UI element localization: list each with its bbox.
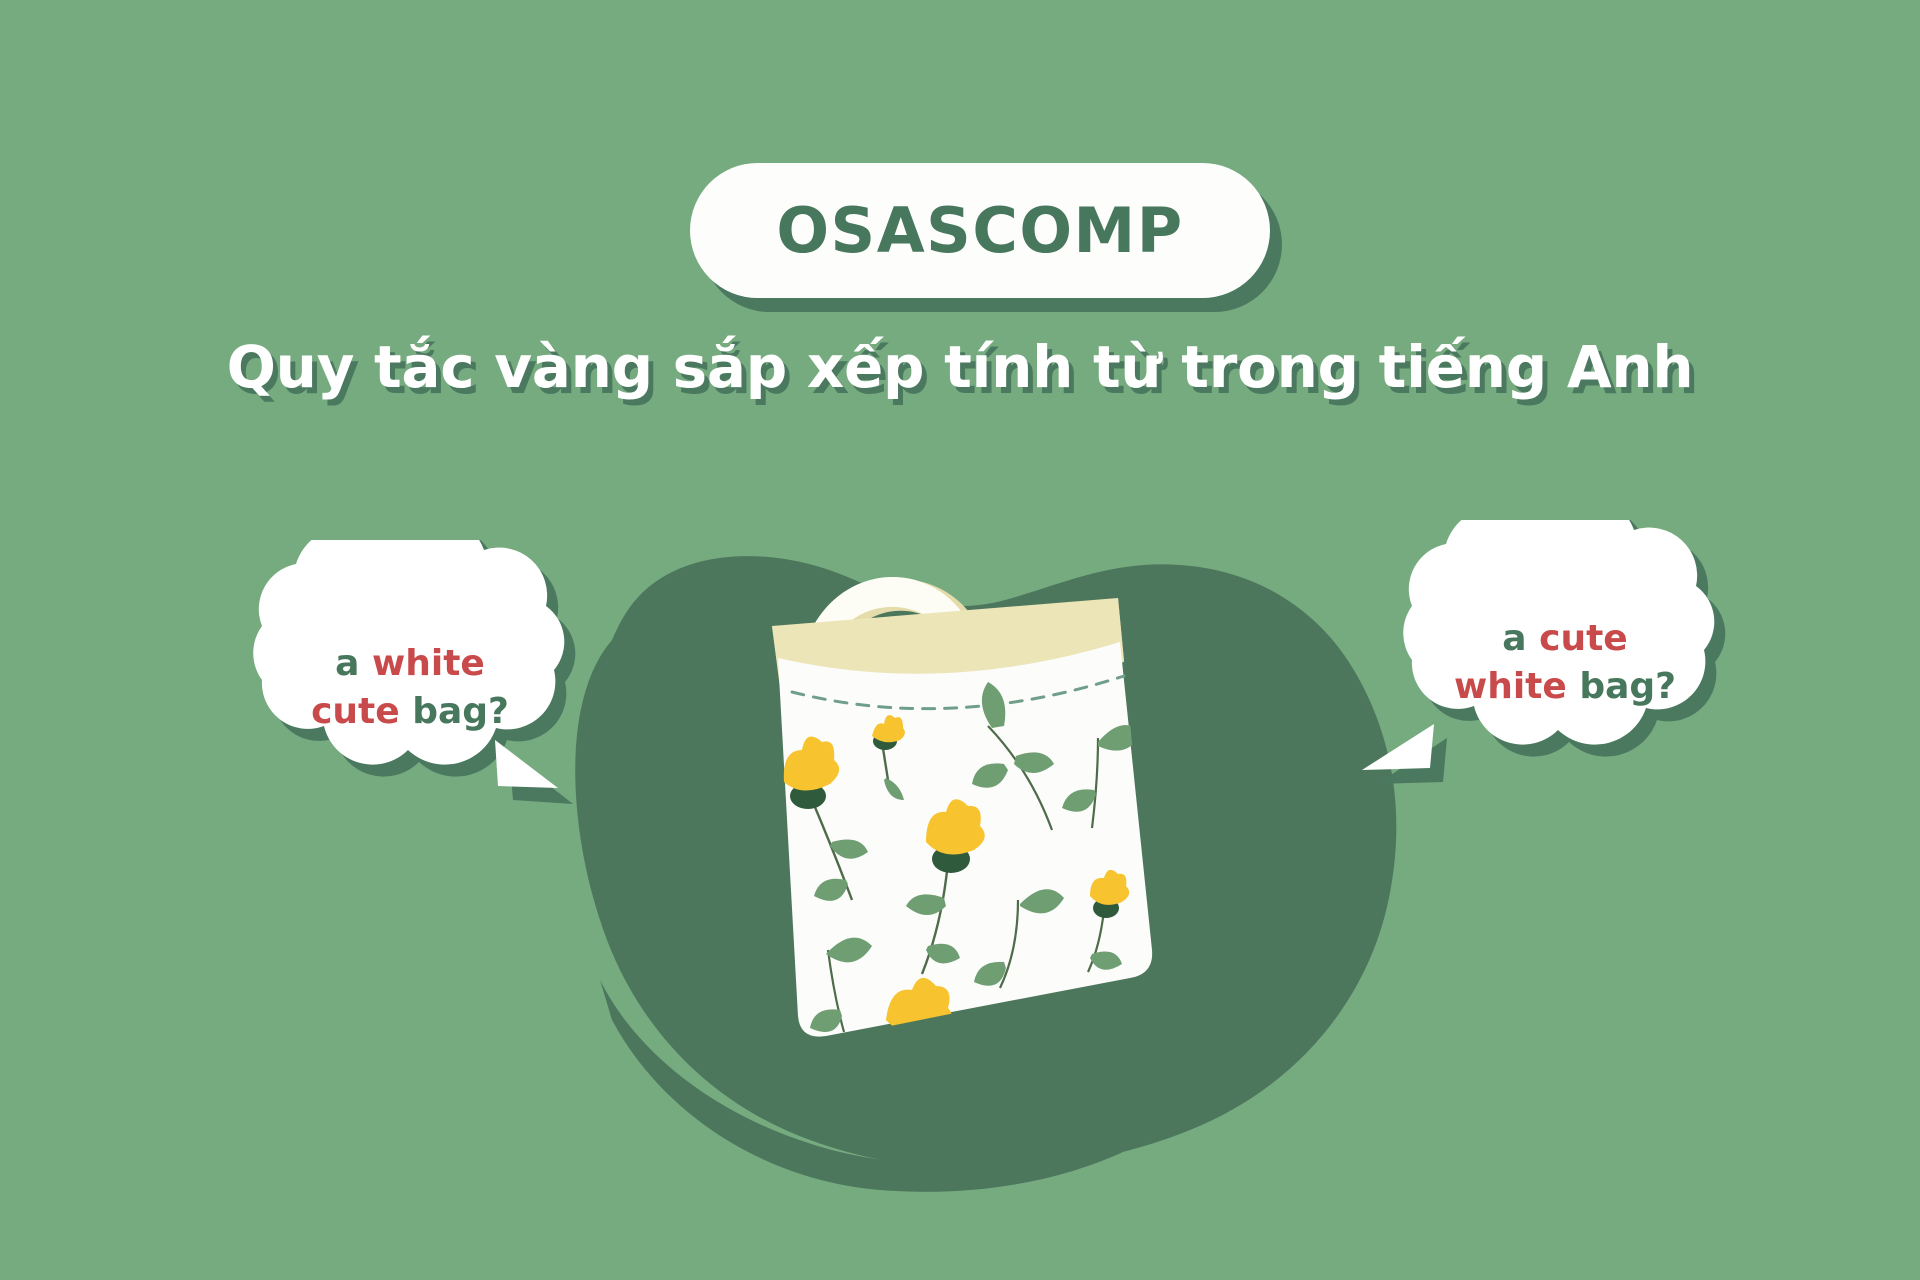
bubble-left-text: a white cute bag?: [240, 640, 580, 735]
page-subtitle: Quy tắc vàng sắp xếp tính từ trong tiếng…: [0, 336, 1920, 400]
bubble-left-line1-plain: a: [335, 643, 372, 684]
tote-bag-illustration: [700, 480, 1260, 1100]
bubble-left-line2-plain: bag?: [400, 691, 509, 732]
osascomp-badge: OSASCOMP: [690, 163, 1270, 298]
speech-bubble-left: a white cute bag?: [190, 540, 630, 840]
badge-surface: OSASCOMP: [690, 163, 1270, 298]
bubble-right-line1-highlight: cute: [1539, 618, 1628, 659]
bubble-left-line2-highlight: cute: [311, 691, 400, 732]
poster-canvas: OSASCOMP Quy tắc vàng sắp xếp tính từ tr…: [0, 0, 1920, 1280]
bubble-right-line1-plain: a: [1502, 618, 1539, 659]
bubble-left-line1-highlight: white: [372, 643, 485, 684]
bubble-right-text: a cute white bag?: [1400, 615, 1730, 710]
badge-title: OSASCOMP: [776, 200, 1183, 262]
speech-bubble-right: a cute white bag?: [1340, 520, 1780, 820]
bubble-right-line2-plain: bag?: [1567, 666, 1676, 707]
bubble-right-line2-highlight: white: [1454, 666, 1567, 707]
